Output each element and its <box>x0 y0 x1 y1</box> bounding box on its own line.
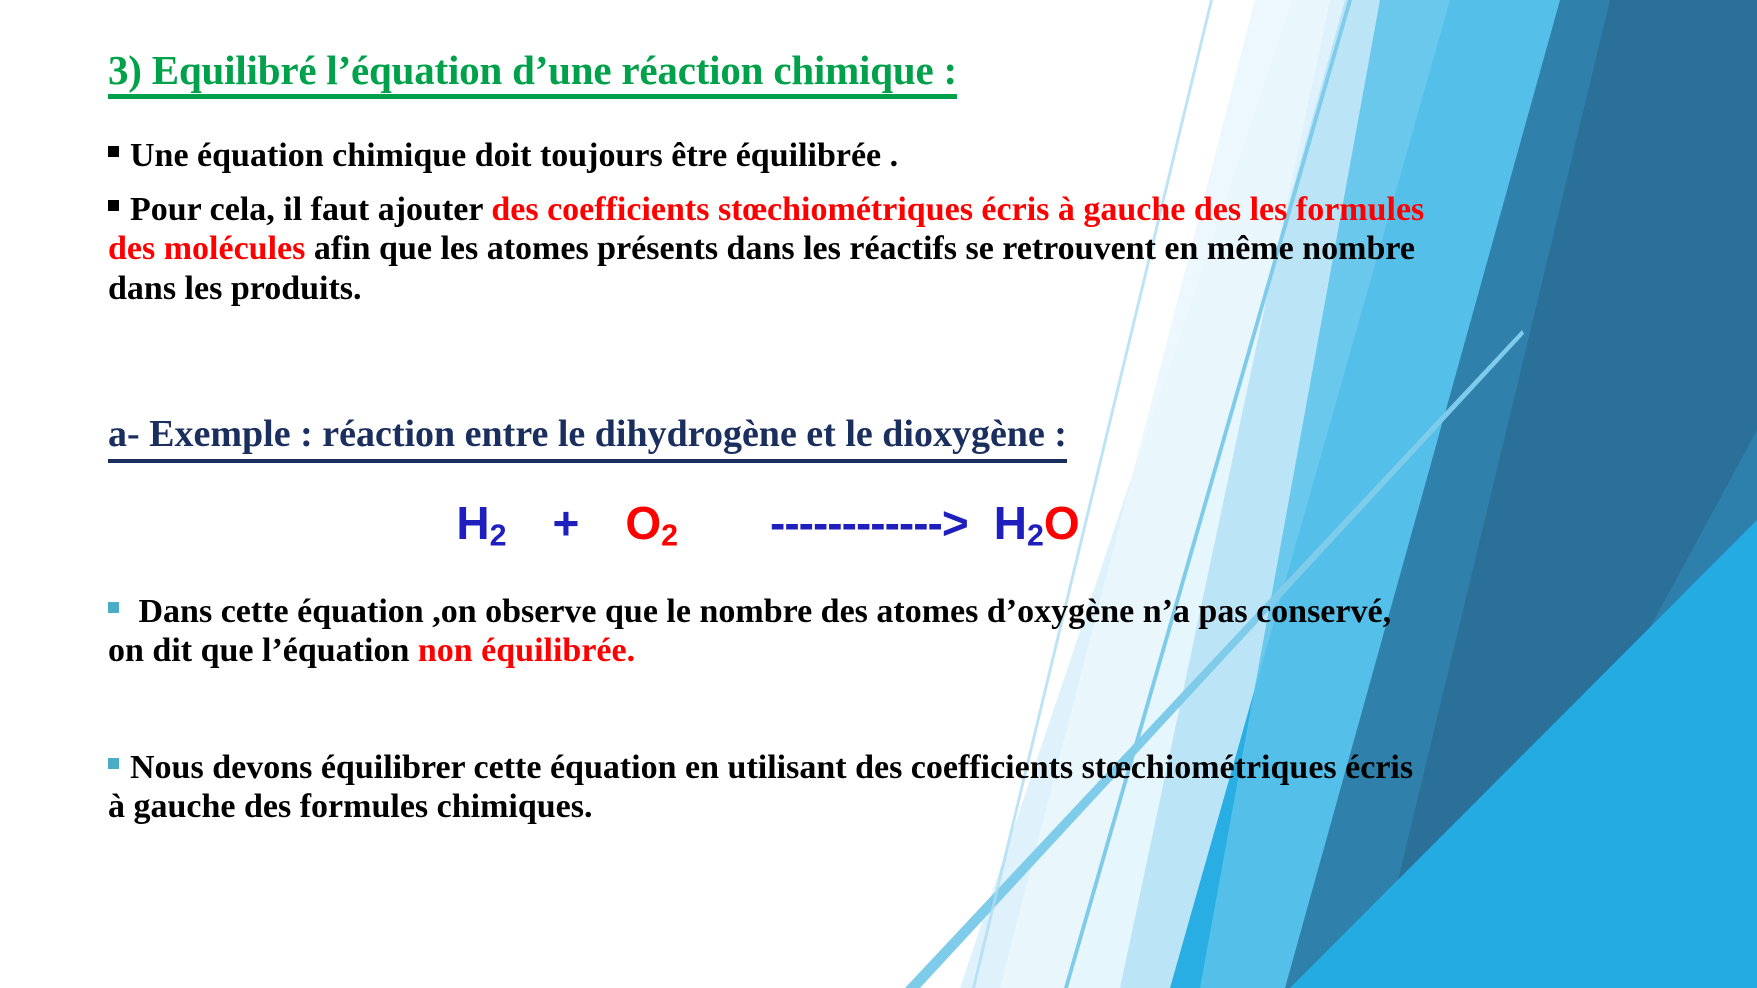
paragraph-3-run-1: Dans cette équation ,on observe que le n… <box>108 593 1391 669</box>
page-title: 3) Equilibré l’équation d’une réaction c… <box>108 46 957 94</box>
equation-reactant-1: H2 <box>456 497 506 549</box>
chemical-equation: H2+O2------------>H2O <box>108 496 1428 554</box>
bullet-paragraph-3: Dans cette équation ,on observe que le n… <box>108 592 1428 671</box>
equation-reactant-2: O2 <box>625 497 678 549</box>
page-title-text: 3) Equilibré l’équation d’une réaction c… <box>108 47 957 93</box>
bullet-paragraph-2: Pour cela, il faut ajouter des coefficie… <box>108 190 1428 308</box>
equation-plus-sign: + <box>552 497 579 549</box>
bullet-paragraph-1-text: Une équation chimique doit toujours être… <box>130 137 898 174</box>
paragraph-2-run-1: Pour cela, il faut ajouter <box>130 191 491 228</box>
slide: 3) Equilibré l’équation d’une réaction c… <box>0 0 1757 988</box>
equation-product: H2O <box>994 497 1080 549</box>
paragraph-2-run-3: afin que les atomes présents dans les ré… <box>108 230 1415 306</box>
paragraph-3-run-2-highlight: non équilibrée. <box>418 632 635 669</box>
equation-h-subscript: 2 <box>490 520 507 553</box>
square-bullet-icon <box>108 200 119 211</box>
square-bullet-icon <box>108 758 119 769</box>
bullet-paragraph-1: Une équation chimique doit toujours être… <box>108 136 1428 175</box>
equation-product-o: O <box>1044 497 1080 549</box>
slide-content: 3) Equilibré l’équation d’une réaction c… <box>0 0 1757 988</box>
equation-h-symbol: H <box>456 497 489 549</box>
section-subheading: a- Exemple : réaction entre le dihydrogè… <box>108 412 1067 456</box>
section-subheading-underline <box>108 459 1067 463</box>
bullet-paragraph-4: Nous devons équilibrer cette équation en… <box>108 748 1428 827</box>
square-bullet-icon <box>108 602 119 613</box>
equation-o-subscript: 2 <box>661 520 678 553</box>
equation-product-h: H <box>994 497 1027 549</box>
equation-product-h-subscript: 2 <box>1027 520 1044 553</box>
equation-arrow: ------------> <box>770 497 968 549</box>
bullet-paragraph-4-text: Nous devons équilibrer cette équation en… <box>108 749 1413 825</box>
page-title-underline <box>108 94 957 99</box>
square-bullet-icon <box>108 146 119 157</box>
section-subheading-text: a- Exemple : réaction entre le dihydrogè… <box>108 413 1067 455</box>
equation-o-symbol: O <box>625 497 661 549</box>
